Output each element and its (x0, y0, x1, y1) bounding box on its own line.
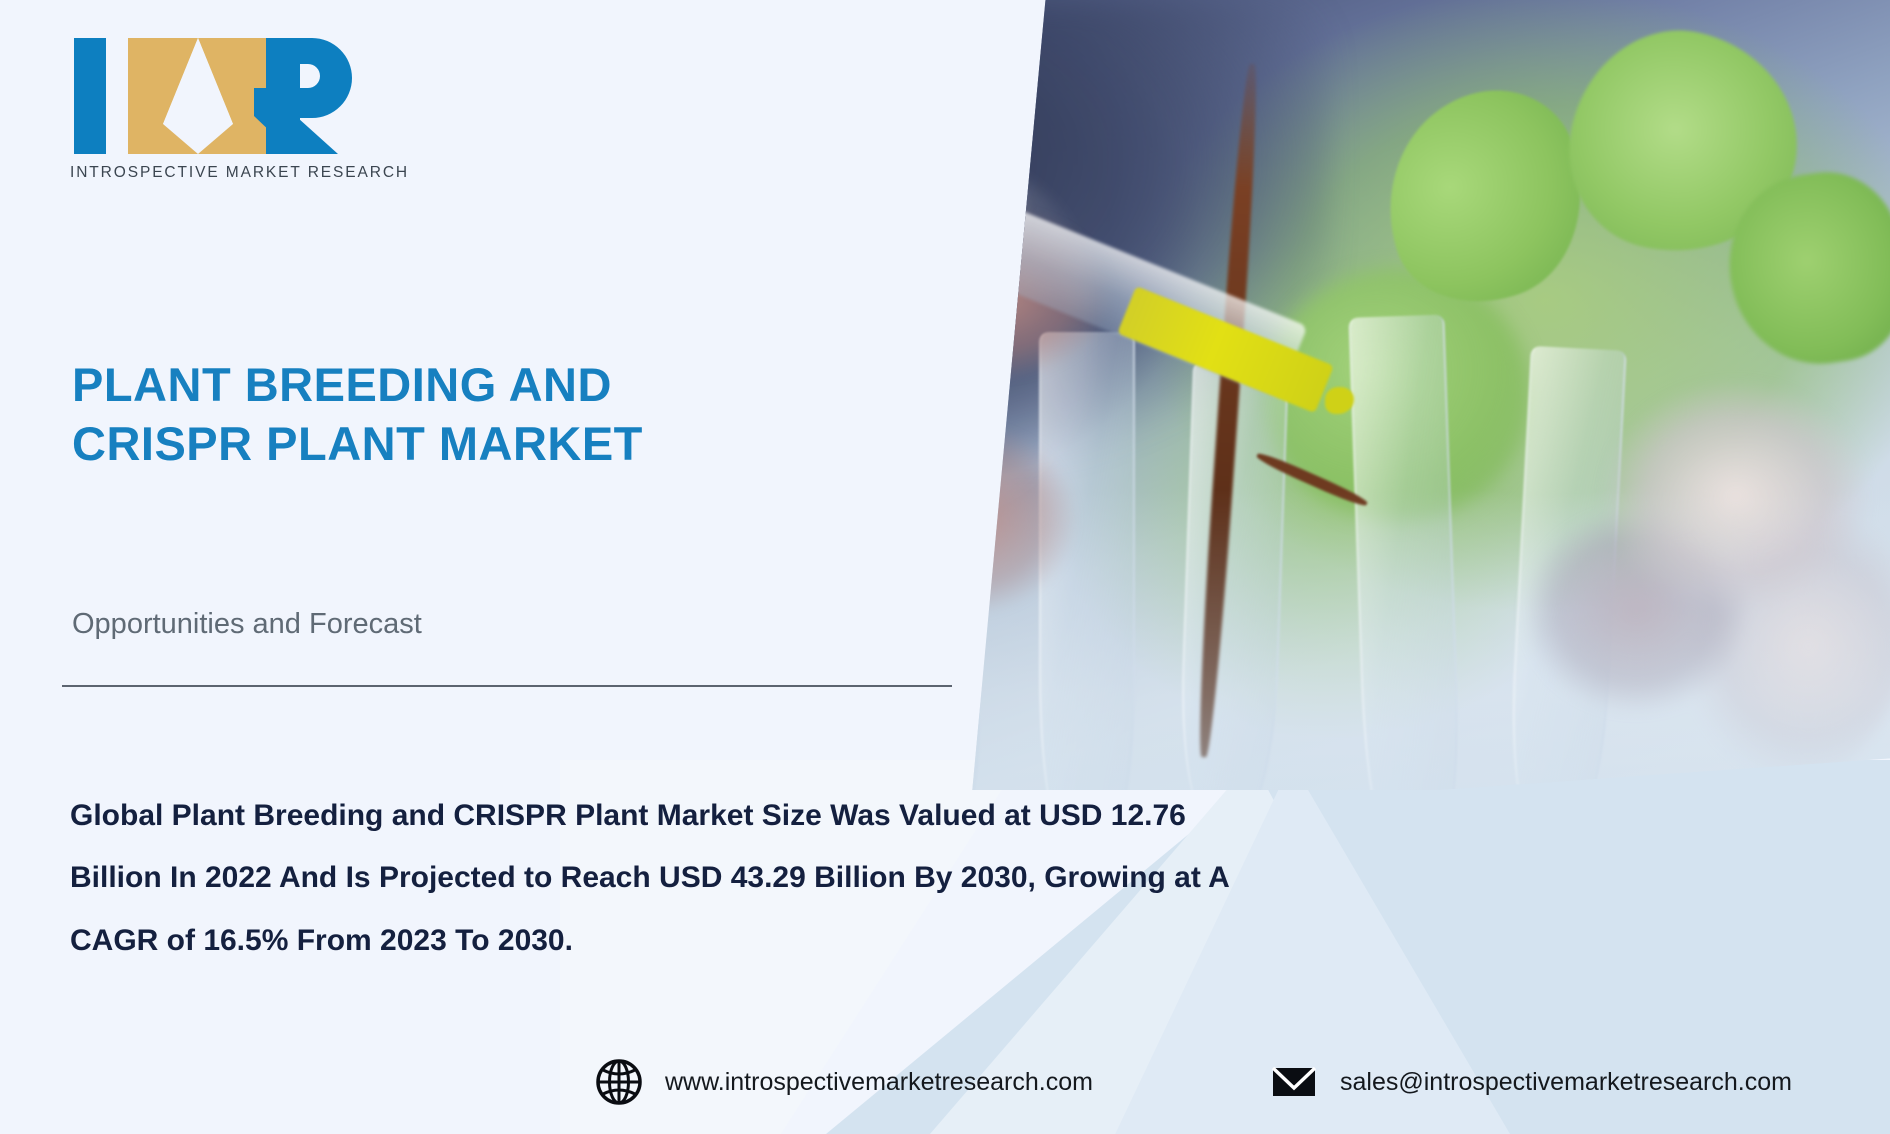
envelope-icon (1270, 1058, 1318, 1106)
globe-icon (595, 1058, 643, 1106)
summary-line-2: Billion In 2022 And Is Projected to Reac… (70, 847, 1630, 909)
market-summary: Global Plant Breeding and CRISPR Plant M… (70, 785, 1630, 972)
title-line-2: CRISPR PLANT MARKET (72, 414, 932, 473)
website-text: www.introspectivemarketresearch.com (665, 1068, 1093, 1097)
logo-tagline: INTROSPECTIVE MARKET RESEARCH (70, 164, 370, 182)
section-divider (62, 685, 952, 687)
footer: www.introspectivemarketresearch.com sale… (0, 1058, 1890, 1134)
imr-logo-icon (70, 32, 360, 160)
email-text: sales@introspectivemarketresearch.com (1340, 1068, 1792, 1097)
page-title: PLANT BREEDING AND CRISPR PLANT MARKET (72, 355, 932, 473)
website-link[interactable]: www.introspectivemarketresearch.com (595, 1058, 1093, 1106)
page-subtitle: Opportunities and Forecast (72, 608, 422, 641)
summary-line-3: CAGR of 16.5% From 2023 To 2030. (70, 910, 1630, 972)
email-link[interactable]: sales@introspectivemarketresearch.com (1270, 1058, 1792, 1106)
summary-line-1: Global Plant Breeding and CRISPR Plant M… (70, 785, 1630, 847)
company-logo[interactable]: INTROSPECTIVE MARKET RESEARCH (70, 30, 370, 182)
logo-letters (70, 30, 370, 160)
title-line-1: PLANT BREEDING AND (72, 355, 932, 414)
